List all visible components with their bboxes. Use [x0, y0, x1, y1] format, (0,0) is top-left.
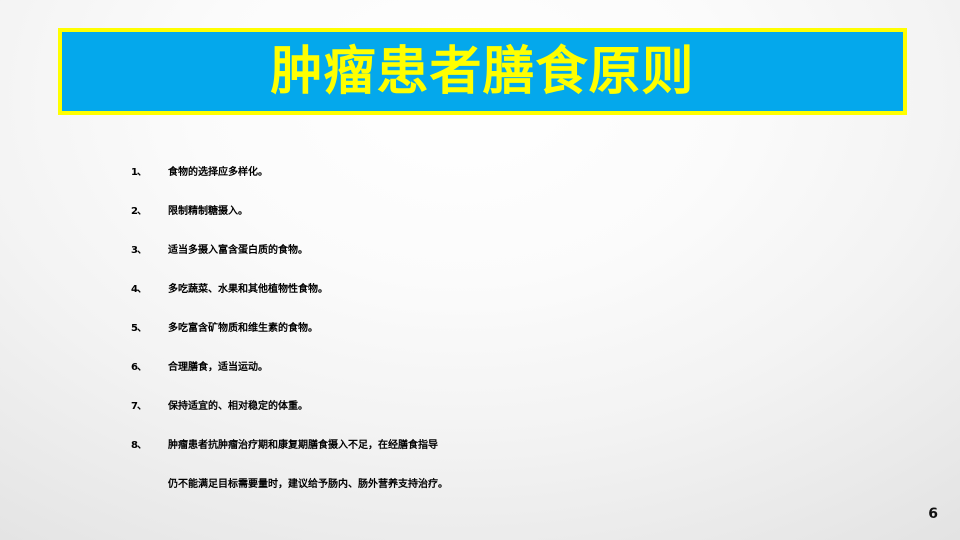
list-item-marker: 6、: [131, 348, 168, 387]
list-item-text: 食物的选择应多样化。: [168, 153, 931, 192]
principles-list: 1、 食物的选择应多样化。 2、 限制精制糖摄入。 3、 适当多摄入富含蛋白质的…: [131, 153, 931, 504]
list-item-text: 多吃蔬菜、水果和其他植物性食物。: [168, 270, 931, 309]
list-item: 7、 保持适宜的、相对稳定的体重。: [131, 387, 931, 426]
list-item-text: 适当多摄入富含蛋白质的食物。: [168, 231, 931, 270]
title-banner: 肿瘤患者膳食原则: [58, 28, 907, 115]
list-item-marker: 8、: [131, 426, 168, 465]
page-number: 6: [928, 506, 938, 522]
list-item-text-line: 仍不能满足目标需要量时，建议给予肠内、肠外营养支持治疗。: [168, 465, 931, 504]
list-item-text: 肿瘤患者抗肿瘤治疗期和康复期膳食摄入不足，在经膳食指导 仍不能满足目标需要量时，…: [168, 426, 931, 504]
list-item-text-line: 肿瘤患者抗肿瘤治疗期和康复期膳食摄入不足，在经膳食指导: [168, 426, 931, 465]
list-item-text: 限制精制糖摄入。: [168, 192, 931, 231]
list-item-marker: 1、: [131, 153, 168, 192]
list-item: 2、 限制精制糖摄入。: [131, 192, 931, 231]
list-item: 1、 食物的选择应多样化。: [131, 153, 931, 192]
page-title: 肿瘤患者膳食原则: [270, 46, 694, 98]
list-item-marker: 2、: [131, 192, 168, 231]
list-item-text: 保持适宜的、相对稳定的体重。: [168, 387, 931, 426]
list-item: 4、 多吃蔬菜、水果和其他植物性食物。: [131, 270, 931, 309]
list-item: 8、 肿瘤患者抗肿瘤治疗期和康复期膳食摄入不足，在经膳食指导 仍不能满足目标需要…: [131, 426, 931, 504]
list-item-marker: 4、: [131, 270, 168, 309]
list-item-marker: 3、: [131, 231, 168, 270]
list-item-text: 合理膳食，适当运动。: [168, 348, 931, 387]
list-item: 5、 多吃富含矿物质和维生素的食物。: [131, 309, 931, 348]
list-item: 6、 合理膳食，适当运动。: [131, 348, 931, 387]
list-item-marker: 5、: [131, 309, 168, 348]
list-item: 3、 适当多摄入富含蛋白质的食物。: [131, 231, 931, 270]
list-item-text: 多吃富含矿物质和维生素的食物。: [168, 309, 931, 348]
list-item-marker: 7、: [131, 387, 168, 426]
slide-canvas: 肿瘤患者膳食原则 1、 食物的选择应多样化。 2、 限制精制糖摄入。 3、 适当…: [0, 0, 960, 540]
